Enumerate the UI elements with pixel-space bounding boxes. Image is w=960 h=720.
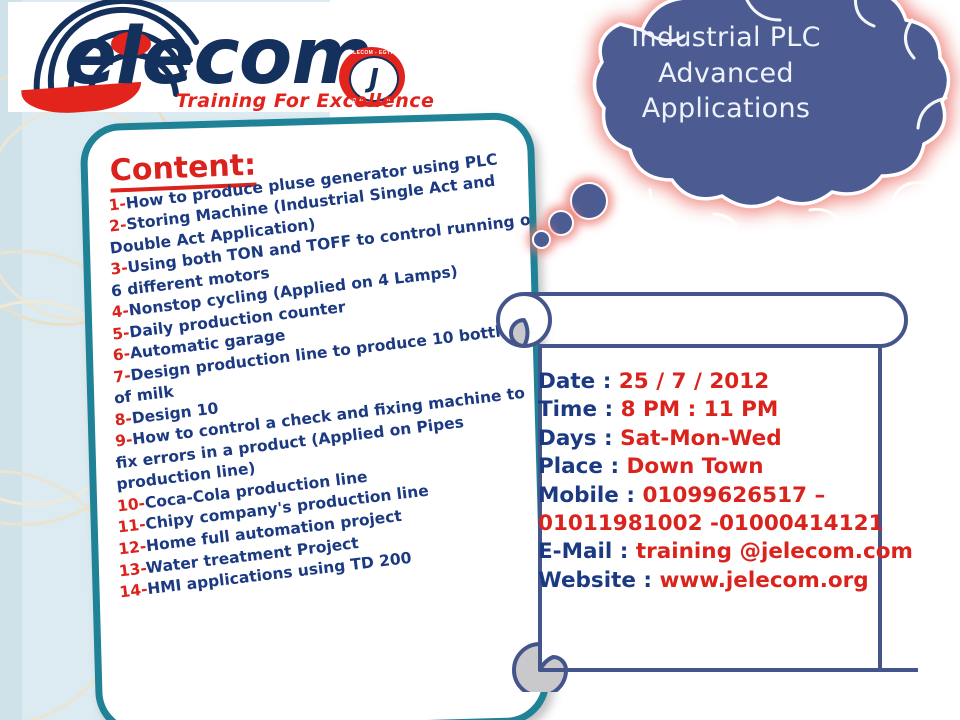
cloud-line-1: Industrial PLC: [576, 20, 876, 56]
details-row: Place : Down Town: [538, 453, 918, 481]
details-row: Mobile : 01099626517 –: [538, 482, 918, 510]
details-value: 01099626517 –: [642, 483, 825, 508]
item-number: 11-: [117, 516, 147, 537]
email-label: E-Mail :: [538, 539, 628, 564]
details-value: Down Town: [627, 454, 764, 479]
thought-cloud: Industrial PLC Advanced Applications: [516, 0, 960, 248]
details-value: Sat-Mon-Wed: [620, 426, 782, 451]
cloud-bubble-large: [570, 182, 608, 220]
item-number: 12-: [117, 537, 147, 558]
details-row: Days : Sat-Mon-Wed: [538, 425, 918, 453]
item-number: 10-: [116, 494, 146, 515]
details-scroll-panel: Date : 25 / 7 / 2012Time : 8 PM : 11 PMD…: [466, 272, 926, 692]
cloud-text: Industrial PLC Advanced Applications: [576, 20, 876, 127]
email-value[interactable]: training @jelecom.com: [636, 539, 913, 564]
details-label: Mobile :: [538, 483, 642, 508]
content-list: 1-How to produce pluse generator using P…: [107, 184, 526, 604]
details-label: Days :: [538, 426, 620, 451]
item-number: 13-: [118, 559, 147, 580]
details-list: Date : 25 / 7 / 2012Time : 8 PM : 11 PMD…: [538, 368, 918, 595]
details-label: Time :: [538, 397, 621, 422]
logo-wordmark: elecom: [64, 18, 372, 96]
details-row: Date : 25 / 7 / 2012: [538, 368, 918, 396]
details-label: Date :: [538, 369, 619, 394]
website-label: Website :: [538, 568, 652, 593]
details-value: 25 / 7 / 2012: [619, 369, 769, 394]
website-value[interactable]: www.jelecom.org: [660, 568, 869, 593]
item-number: 14-: [118, 580, 148, 601]
details-value: 8 PM : 11 PM: [621, 397, 779, 422]
slide-canvas: elecom JELECOM - EGYPT ISO 9001 Certifie…: [0, 0, 960, 720]
cloud-line-2: Advanced: [576, 56, 876, 92]
mobile-continued: 01011981002 -01000414121: [538, 510, 918, 538]
details-label: Place :: [538, 454, 627, 479]
cloud-bubble-medium: [548, 210, 574, 236]
details-row: Time : 8 PM : 11 PM: [538, 396, 918, 424]
logo-header: elecom JELECOM - EGYPT ISO 9001 Certifie…: [8, 2, 513, 112]
email-row: E-Mail : training @jelecom.com: [538, 538, 918, 566]
logo-tagline: Training For Excellence: [176, 90, 434, 112]
cloud-bubble-small: [532, 230, 551, 249]
website-row: Website : www.jelecom.org: [538, 567, 918, 595]
cloud-line-3: Applications: [576, 91, 876, 127]
